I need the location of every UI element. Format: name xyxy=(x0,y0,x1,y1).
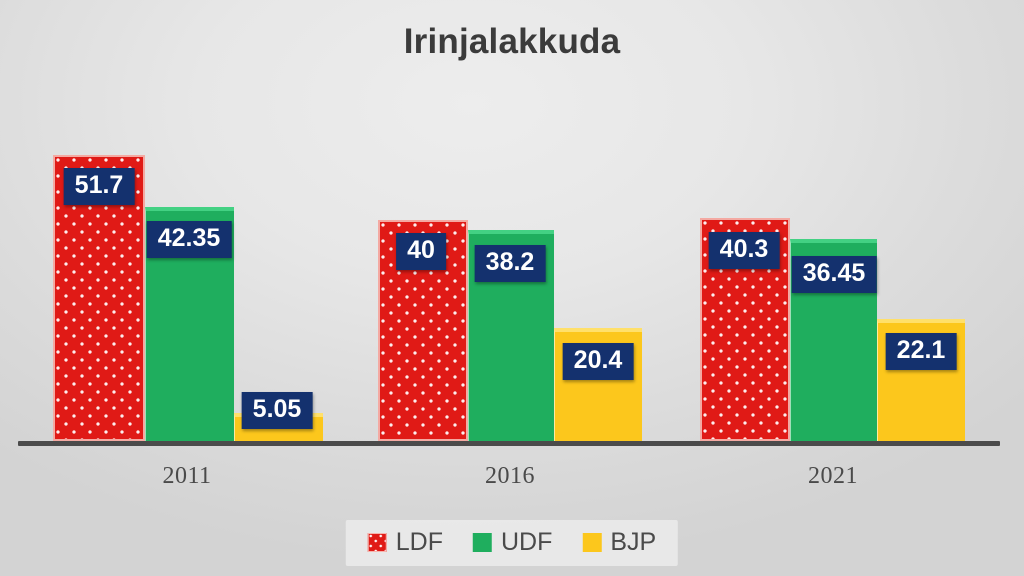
plot-area: 51.742.355.054038.220.440.336.4522.1 201… xyxy=(0,0,1024,576)
bar-2021-udf-value-label: 36.45 xyxy=(792,256,877,293)
chart-canvas: Irinjalakkuda 51.742.355.054038.220.440.… xyxy=(0,0,1024,576)
category-label-2016: 2016 xyxy=(485,463,535,490)
bar-2016-udf-value-label: 38.2 xyxy=(475,245,546,282)
bar-2016-bjp-value-label: 20.4 xyxy=(563,343,634,380)
legend-item-udf[interactable]: UDF xyxy=(473,528,552,557)
legend-item-ldf[interactable]: LDF xyxy=(368,528,443,557)
legend-item-bjp[interactable]: BJP xyxy=(582,528,656,557)
legend-label: LDF xyxy=(396,528,443,557)
bar-2011-udf-value-label: 42.35 xyxy=(147,221,232,258)
axis-baseline xyxy=(18,441,1000,446)
legend-swatch-bjp-icon xyxy=(582,533,601,552)
bar-2021-bjp-value-label: 22.1 xyxy=(886,333,957,370)
legend-label: UDF xyxy=(501,528,552,557)
chart-legend: LDFUDFBJP xyxy=(346,520,678,566)
bar-2021-ldf-value-label: 40.3 xyxy=(709,232,780,269)
legend-swatch-ldf-icon xyxy=(368,533,387,552)
bar-2011-ldf-value-label: 51.7 xyxy=(64,168,135,205)
bar-2011-bjp-value-label: 5.05 xyxy=(242,392,313,429)
category-label-2021: 2021 xyxy=(808,463,858,490)
legend-swatch-udf-icon xyxy=(473,533,492,552)
category-label-2011: 2011 xyxy=(162,463,211,490)
bar-2016-ldf-value-label: 40 xyxy=(396,233,446,270)
legend-label: BJP xyxy=(610,528,656,557)
